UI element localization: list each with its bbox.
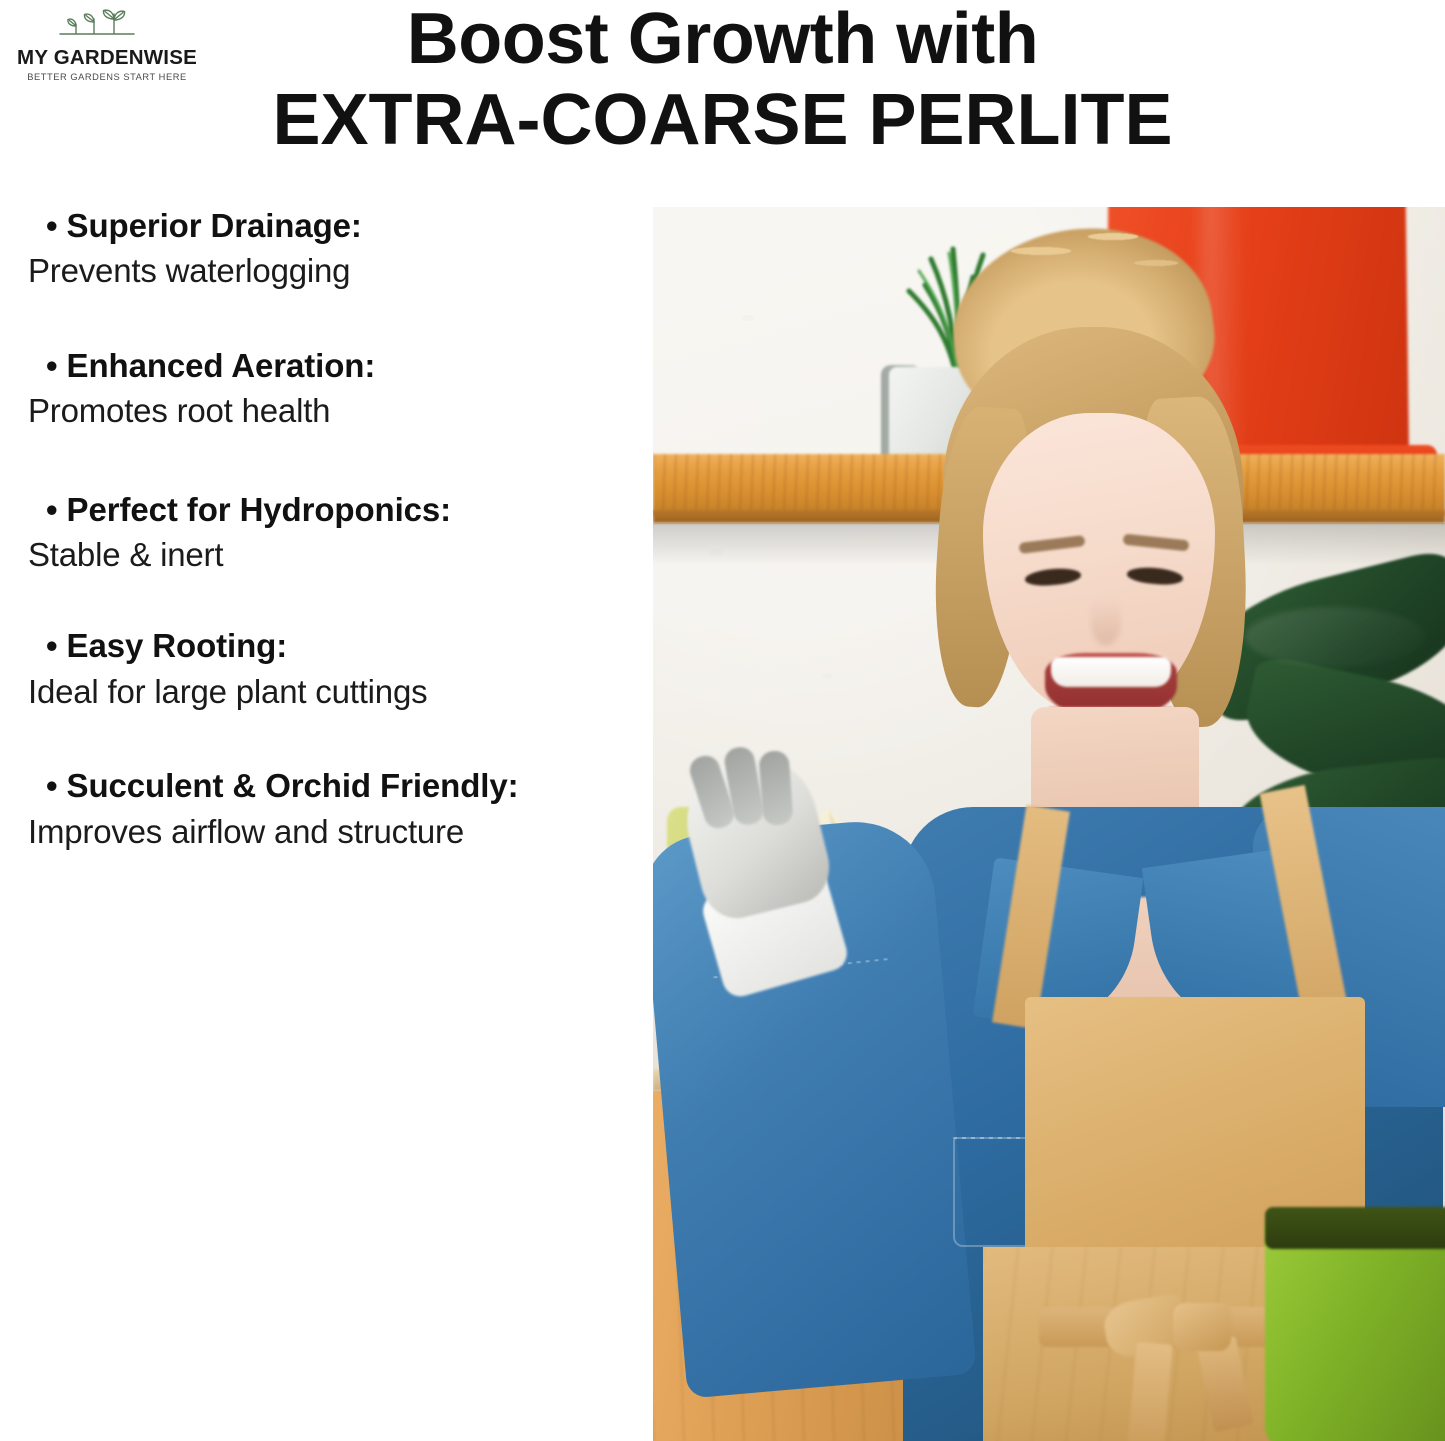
brand-name: MY GARDENWISE xyxy=(8,47,206,69)
list-item: • Superior Drainage: Prevents waterloggi… xyxy=(28,205,638,293)
list-item: • Perfect for Hydroponics: Stable & iner… xyxy=(28,489,638,577)
benefit-title-text: Enhanced Aeration: xyxy=(67,347,376,384)
nose xyxy=(1091,599,1121,645)
green-pot-soil xyxy=(1265,1207,1445,1249)
benefit-title-text: Easy Rooting: xyxy=(67,627,288,664)
benefit-title-text: Superior Drainage: xyxy=(67,207,362,244)
brand-tagline: BETTER GARDENS START HERE xyxy=(8,72,206,82)
apron-bow-knot xyxy=(1173,1303,1231,1351)
page-title: Boost Growth with EXTRA-COARSE PERLITE xyxy=(195,2,1250,158)
benefit-description: Prevents waterlogging xyxy=(28,249,638,293)
bullet-icon: • xyxy=(46,347,57,384)
list-item: • Succulent & Orchid Friendly: Improves … xyxy=(28,765,638,853)
benefit-title-text: Perfect for Hydroponics: xyxy=(67,491,452,528)
benefit-title: • Easy Rooting: xyxy=(28,625,638,667)
benefit-title-text: Succulent & Orchid Friendly: xyxy=(67,767,519,804)
benefits-list: • Superior Drainage: Prevents waterloggi… xyxy=(0,205,648,854)
benefit-description: Stable & inert xyxy=(28,533,638,577)
benefit-title: • Enhanced Aeration: xyxy=(28,345,638,387)
list-item: • Enhanced Aeration: Promotes root healt… xyxy=(28,345,638,433)
benefit-description: Improves airflow and structure xyxy=(28,810,638,854)
bullet-icon: • xyxy=(46,491,57,528)
bullet-icon: • xyxy=(46,627,57,664)
glove-finger xyxy=(758,750,793,826)
headline-line-1: Boost Growth with xyxy=(195,2,1250,77)
benefit-description: Promotes root health xyxy=(28,389,638,433)
hero-photo xyxy=(653,207,1445,1441)
benefit-description: Ideal for large plant cuttings xyxy=(28,670,638,714)
teeth xyxy=(1051,657,1171,687)
headline-line-2: EXTRA-COARSE PERLITE xyxy=(195,83,1250,158)
list-item: • Easy Rooting: Ideal for large plant cu… xyxy=(28,625,638,713)
bullet-icon: • xyxy=(46,767,57,804)
bullet-icon: • xyxy=(46,207,57,244)
benefit-title: • Perfect for Hydroponics: xyxy=(28,489,638,531)
benefit-title: • Superior Drainage: xyxy=(28,205,638,247)
three-leaf-sprouts-icon xyxy=(42,6,172,46)
hair-wisps xyxy=(969,215,1209,335)
brand-logo: MY GARDENWISE BETTER GARDENS START HERE xyxy=(8,6,206,82)
leaf-highlight xyxy=(1245,607,1425,667)
green-plant-pot xyxy=(1265,1217,1445,1441)
benefit-title: • Succulent & Orchid Friendly: xyxy=(28,765,638,807)
